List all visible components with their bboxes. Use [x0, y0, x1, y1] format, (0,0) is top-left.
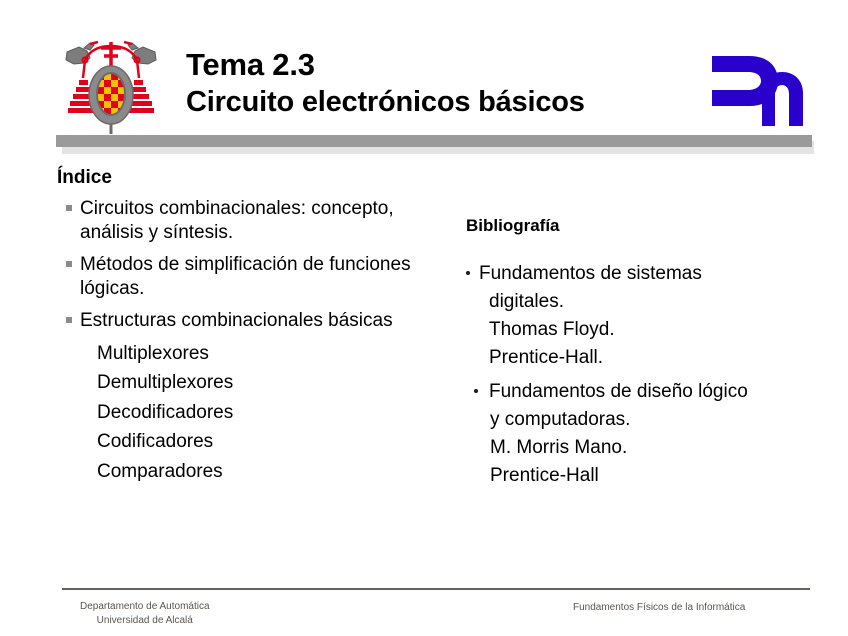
- university-of-alcala-crest-icon: [57, 30, 165, 138]
- index-item: Métodos de simplificación de funciones l…: [57, 253, 417, 300]
- bibliography-line: Prentice-Hall: [489, 462, 816, 490]
- dot-bullet-icon: [474, 389, 478, 393]
- bibliography-entry: Fundamentos de diseño lógico y computado…: [466, 378, 816, 490]
- title-line-1: Tema 2.3: [186, 46, 656, 84]
- bibliography-entry: Fundamentos de sistemas digitales. Thoma…: [466, 260, 816, 372]
- bibliography-line: Fundamentos de sistemas: [479, 260, 816, 288]
- bibliography-line: y computadoras.: [489, 406, 816, 434]
- slide-canvas: Tema 2.3 Circuito electrónicos básicos Í…: [0, 0, 848, 636]
- index-subitem: Multiplexores: [57, 342, 417, 366]
- bibliography-line: Fundamentos de diseño lógico: [489, 378, 816, 406]
- square-bullet-icon: [66, 205, 72, 211]
- bibliography-section: Bibliografía Fundamentos de sistemas dig…: [466, 214, 816, 492]
- slide-title: Tema 2.3 Circuito electrónicos básicos: [186, 46, 656, 121]
- footer-divider: [62, 588, 810, 590]
- footer-department-line-2: Universidad de Alcalá: [80, 614, 210, 628]
- index-item-label: Métodos de simplificación de funciones l…: [80, 254, 411, 299]
- footer-department-line-1: Departamento de Automática: [80, 600, 210, 614]
- bibliography-line: Prentice-Hall.: [479, 344, 816, 372]
- index-item: Estructuras combinacionales básicas: [57, 309, 417, 333]
- index-heading: Índice: [57, 166, 417, 190]
- header-divider-bar: [56, 135, 812, 147]
- bibliography-line: M. Morris Mano.: [489, 434, 816, 462]
- square-bullet-icon: [66, 317, 72, 323]
- bibliography-line: digitales.: [479, 288, 816, 316]
- index-item-label: Circuitos combinacionales: concepto, aná…: [80, 198, 394, 243]
- index-subitem: Decodificadores: [57, 401, 417, 425]
- index-item: Circuitos combinacionales: concepto, aná…: [57, 197, 417, 244]
- dot-bullet-icon: [466, 271, 470, 275]
- footer-course-title: Fundamentos Físicos de la Informática: [573, 601, 745, 615]
- footer-department: Departamento de Automática Universidad d…: [80, 600, 210, 628]
- bibliography-heading: Bibliografía: [466, 214, 816, 238]
- index-subitem: Comparadores: [57, 460, 417, 484]
- index-subitem: Codificadores: [57, 430, 417, 454]
- index-subitem: Demultiplexores: [57, 371, 417, 395]
- departamento-automatica-logo-icon: [700, 36, 818, 128]
- index-section: Índice Circuitos combinacionales: concep…: [57, 166, 417, 483]
- index-item-label: Estructuras combinacionales básicas: [80, 310, 393, 331]
- title-line-2: Circuito electrónicos básicos: [186, 84, 656, 121]
- square-bullet-icon: [66, 261, 72, 267]
- bibliography-line: Thomas Floyd.: [479, 316, 816, 344]
